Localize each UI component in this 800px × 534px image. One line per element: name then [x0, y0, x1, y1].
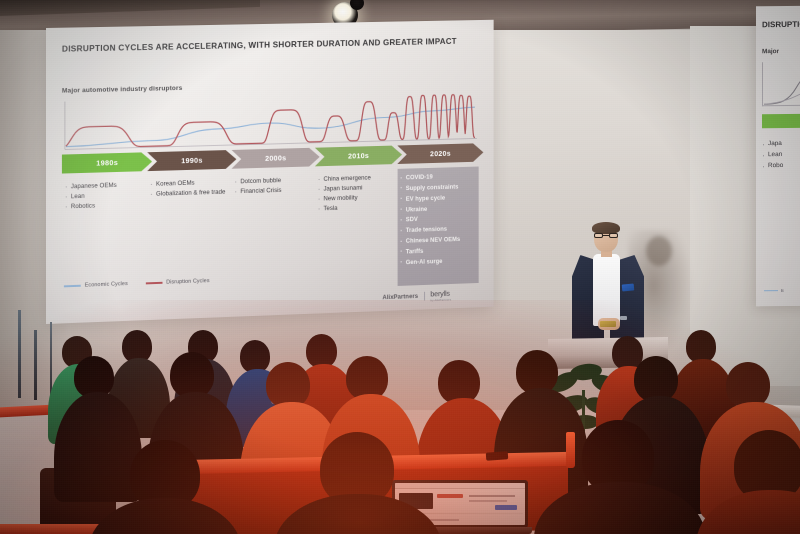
secondary-disruptor-list: JapaLeanRobo — [762, 138, 783, 172]
secondary-trend-line — [764, 66, 800, 104]
disruptor-columns: Japanese OEMsLeanRobotics Korean OEMsGlo… — [62, 167, 479, 299]
secondary-chart — [762, 61, 800, 106]
presenter-clicker-device — [600, 321, 616, 327]
legend-swatch-line — [64, 285, 81, 287]
decade-label: 2000s — [265, 153, 286, 162]
glasses-icon — [594, 233, 618, 238]
slide-footer-logos: AlixPartners berylls by AlixPartners — [382, 289, 451, 304]
legend-swatch-line — [146, 282, 163, 284]
decade-chevron-1980s[interactable]: 1980s — [62, 152, 152, 173]
legend-label: E — [781, 288, 784, 293]
disruptor-list: China emergenceJapan tsunamiNew mobility… — [318, 173, 393, 215]
secondary-legend: E — [764, 288, 784, 293]
presenter-wristwatch — [620, 316, 627, 320]
phone-on-table — [486, 451, 509, 461]
screen-text-line — [469, 500, 507, 502]
disruptor-column-2010s: China emergenceJapan tsunamiNew mobility… — [315, 169, 397, 289]
decade-label: 2010s — [348, 151, 369, 160]
conference-room-photo: DISRUPTION CYCLES ARE ACCELERATING, WITH… — [0, 0, 800, 534]
decade-label: 1990s — [181, 156, 203, 166]
water-bottle-4 — [566, 432, 575, 468]
audience-head — [726, 362, 770, 408]
disruptor-item: Financial Crisis — [234, 185, 310, 197]
disruptor-item: Globalization & free trade — [150, 188, 227, 200]
secondary-trend-line-2 — [764, 82, 800, 104]
presenter-shirt — [593, 254, 620, 326]
decade-label: 2020s — [430, 149, 451, 158]
decade-chevron-1990s[interactable]: 1990s — [147, 150, 236, 171]
disruptor-column-1990s: Korean OEMsGlobalization & free trade — [147, 174, 231, 296]
berylls-logo: berylls by AlixPartners — [430, 289, 451, 302]
logo-divider — [424, 292, 425, 301]
disruptor-list: COVID-19Supply constraintsEV hype cycleU… — [400, 172, 474, 269]
decade-label: 1980s — [96, 158, 118, 168]
slide-subtitle: Major automotive industry disruptors — [62, 85, 182, 95]
secondary-disruptor-item: Robo — [762, 160, 783, 171]
secondary-slide-subtitle: Major — [762, 48, 779, 55]
slide-title: DISRUPTION CYCLES ARE ACCELERATING, WITH… — [62, 36, 479, 54]
alixpartners-logo: AlixPartners — [382, 293, 418, 301]
audience-head — [306, 334, 337, 368]
mic-stand-pole-1 — [18, 310, 21, 398]
disruptor-item: Gen-AI surge — [400, 256, 474, 269]
disruptor-item: Robotics — [65, 200, 142, 212]
berylls-logo-tagline: by AlixPartners — [430, 298, 451, 303]
disruptor-column-2020s: COVID-19Supply constraintsEV hype cycleU… — [397, 167, 478, 286]
decade-chevron-2020s[interactable]: 2020s — [397, 143, 483, 164]
decade-chevron-2000s[interactable]: 2000s — [232, 148, 320, 169]
projection-screen-main: DISRUPTION CYCLES ARE ACCELERATING, WITH… — [46, 20, 494, 324]
projection-screen-secondary: DISRUPTION Major JapaLeanRobo E — [756, 6, 800, 307]
disruptor-list: Korean OEMsGlobalization & free trade — [150, 178, 227, 200]
screen-text-line — [469, 495, 515, 497]
browser-toolbar — [395, 483, 525, 489]
secondary-chart-svg — [763, 61, 800, 105]
presenter — [560, 222, 656, 352]
disruptor-list: Dotcom bubbleFinancial Crisis — [234, 175, 310, 197]
mic-stand-pole-2 — [34, 330, 37, 400]
secondary-disruptor-item: Japa — [762, 138, 783, 149]
secondary-disruptor-item: Lean — [762, 149, 783, 160]
legend-swatch-line — [764, 290, 778, 292]
disruptor-column-2000s: Dotcom bubbleFinancial Crisis — [232, 171, 315, 292]
decade-chevron-2010s[interactable]: 2010s — [315, 145, 402, 166]
screen-accent-bar — [437, 494, 463, 498]
disruptor-list: Japanese OEMsLeanRobotics — [65, 180, 142, 212]
presenter-pocket-square — [622, 283, 635, 291]
disruptor-item: Tesla — [318, 202, 393, 214]
secondary-decade-chevron — [762, 113, 800, 128]
screen-button[interactable] — [495, 505, 517, 510]
secondary-slide-title: DISRUPTION — [762, 20, 800, 30]
